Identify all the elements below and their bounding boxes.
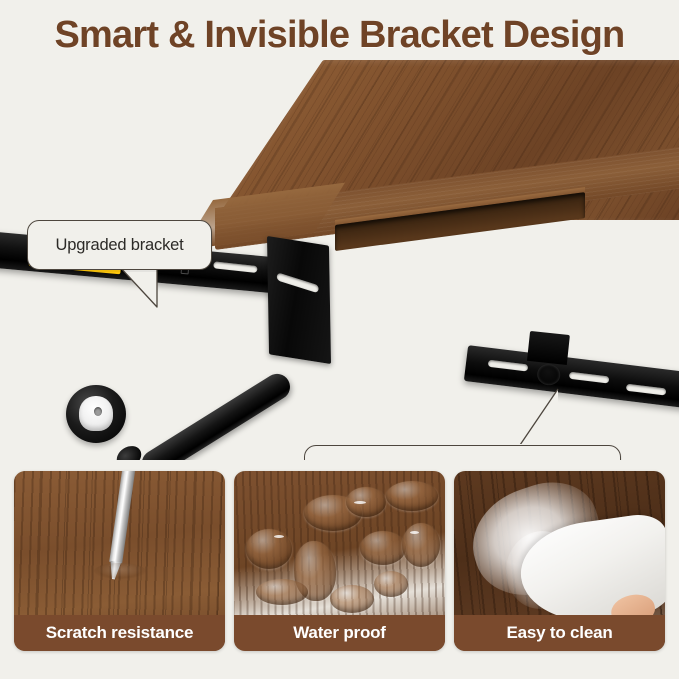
infographic-page: Smart & Invisible Bracket Design UP UP (0, 0, 679, 679)
water-droplet (374, 571, 408, 597)
callout-upgraded-bracket: Upgraded bracket (27, 220, 212, 270)
hero-scene: UP UP Upgraded bracket (0, 55, 679, 460)
bracket-slot-hole (569, 372, 610, 384)
droplet-highlight (274, 535, 284, 538)
water-droplet (386, 481, 438, 511)
bracket-slot-hole (488, 360, 529, 372)
feature-panel-scratch-resistance: Scratch resistance (14, 471, 225, 651)
bracket-right-riser (527, 331, 570, 365)
feature-panels: Scratch resistance Water proof (14, 471, 665, 651)
callout-cross-mixed-holes: Cross-mixed holes-more stability (304, 445, 621, 460)
callout-2-tail (510, 383, 600, 453)
bracket-support-rod (137, 369, 295, 460)
feature-caption: Easy to clean (454, 615, 665, 651)
water-droplet (330, 585, 374, 613)
callout-upgraded-bracket-label: Upgraded bracket (56, 236, 184, 255)
bracket-rod-cap (113, 442, 146, 460)
water-droplet (402, 523, 440, 567)
feature-panel-water-proof: Water proof (234, 471, 445, 651)
bracket-slot-hole (213, 261, 257, 273)
feature-caption: Scratch resistance (14, 615, 225, 651)
water-droplet (246, 529, 292, 569)
droplet-highlight (410, 531, 419, 534)
feature-caption: Water proof (234, 615, 445, 651)
bracket-slot-hole (626, 384, 667, 396)
bracket-vertical-plate (267, 236, 331, 364)
water-droplet (346, 487, 386, 517)
page-title: Smart & Invisible Bracket Design (0, 14, 679, 57)
washer-center-hole (94, 407, 102, 416)
scratch-mark (94, 563, 146, 579)
rubber-washer (66, 385, 126, 443)
water-droplet (256, 579, 308, 605)
feature-panel-easy-to-clean: Easy to clean (454, 471, 665, 651)
screwdriver-icon (109, 471, 136, 563)
callout-cross-mixed-holes-label: Cross-mixed holes-more stability (346, 460, 579, 461)
bracket-slot-hole (276, 272, 319, 293)
droplet-highlight (354, 501, 366, 504)
water-droplet (360, 531, 406, 565)
